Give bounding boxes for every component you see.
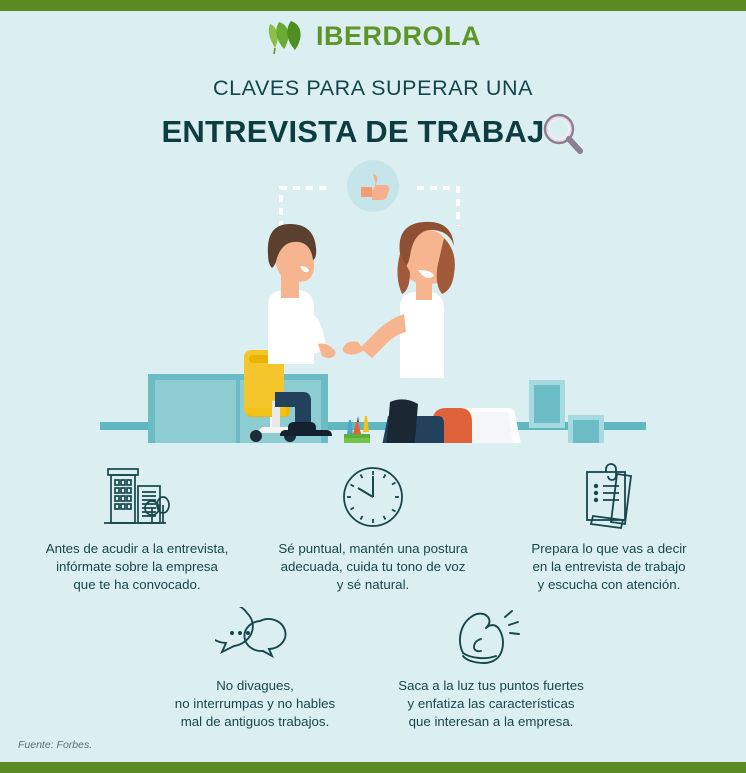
title-line-2-wrapper: ENTREVISTA DE TRABAJ [0, 108, 746, 156]
tip-text: No divagues, no interrumpas y no hables … [175, 677, 335, 731]
thumbs-up-icon [347, 160, 399, 212]
office-buildings-icon [100, 458, 174, 530]
pencil-cup [344, 416, 370, 443]
source-footnote: Fuente: Forbes. [18, 739, 92, 751]
wall-frame-1 [529, 380, 565, 428]
magnifier-icon [542, 112, 584, 156]
tip-card-do-not-ramble: No divagues, no interrumpas y no hables … [137, 605, 373, 731]
brand-logo: IBERDROLA [0, 18, 746, 54]
job-interview-illustration [0, 158, 746, 443]
tip-card-punctuality: Sé puntual, mantén una postura adecuada,… [255, 458, 491, 594]
bottom-green-bar [0, 762, 746, 773]
tip-text: Antes de acudir a la entrevista, infórma… [46, 540, 229, 594]
title-line-1: CLAVES PARA SUPERAR UNA [0, 78, 746, 100]
tip-text: Prepara lo que vas a decir en la entrevi… [531, 540, 686, 594]
notepad-icon [573, 458, 645, 530]
flexed-biceps-icon [451, 605, 531, 667]
tip-text: Sé puntual, mantén una postura adecuada,… [278, 540, 467, 594]
clock-icon [340, 458, 406, 530]
brand-name: IBERDROLA [316, 21, 481, 52]
illustration-svg [0, 158, 746, 443]
page-title: CLAVES PARA SUPERAR UNA ENTREVISTA DE TR… [0, 78, 746, 156]
tips-row-1: Antes de acudir a la entrevista, infórma… [0, 458, 746, 594]
interviewer-woman [343, 222, 455, 443]
tip-card-prepare-answers: Prepara lo que vas a decir en la entrevi… [491, 458, 727, 594]
infographic-page: IBERDROLA CLAVES PARA SUPERAR UNA ENTREV… [0, 0, 746, 773]
iberdrola-leaves-logo-icon [265, 18, 309, 54]
tip-text: Saca a la luz tus puntos fuertes y enfat… [398, 677, 584, 731]
speech-bubbles-icon [215, 605, 295, 667]
tip-card-strengths: Saca a la luz tus puntos fuertes y enfat… [373, 605, 609, 731]
tips-row-2: No divagues, no interrumpas y no hables … [0, 605, 746, 731]
top-green-bar [0, 0, 746, 11]
tip-card-company-research: Antes de acudir a la entrevista, infórma… [19, 458, 255, 594]
wall-frame-2 [568, 415, 604, 443]
title-line-2: ENTREVISTA DE TRABAJ [162, 116, 545, 147]
